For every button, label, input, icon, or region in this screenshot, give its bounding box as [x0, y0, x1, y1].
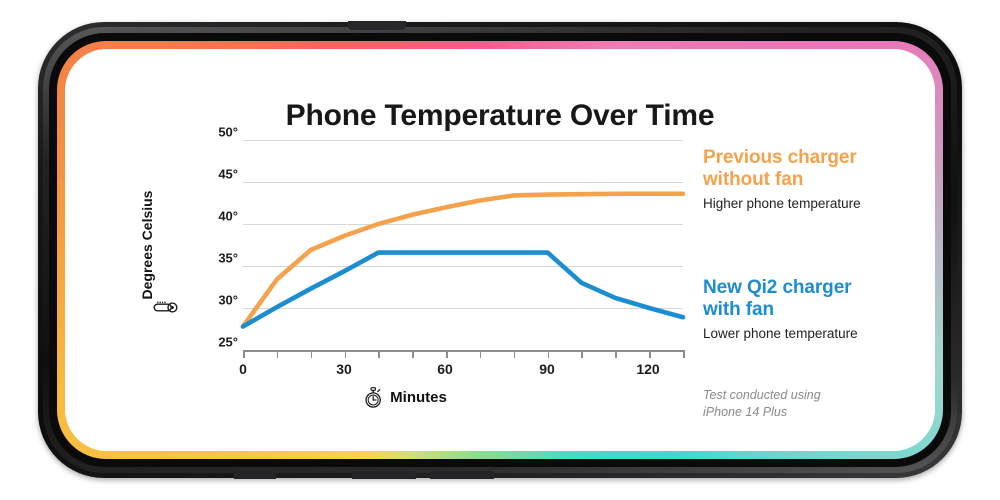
thermometer-icon: [153, 299, 179, 315]
line-new-qi2-charger-with-fan: [243, 253, 683, 327]
legend-orange-title: Previous charger without fan: [703, 147, 861, 191]
x-tick-90: 90: [539, 361, 555, 377]
phone-mockup: Phone Temperature Over Time Degrees Cels…: [38, 22, 962, 478]
line-previous-charger-without-fan: [243, 194, 683, 327]
phone-button-power[interactable]: [430, 471, 494, 479]
x-minor-tick-90: [548, 350, 550, 358]
series-lines: [243, 140, 683, 350]
legend-previous-charger: Previous charger without fan Higher phon…: [703, 147, 861, 211]
legend-new-qi2-charger: New Qi2 charger with fan Lower phone tem…: [703, 277, 858, 341]
x-minor-tick-40: [378, 350, 380, 358]
legend-blue-title-line1: New Qi2 charger: [703, 277, 858, 299]
x-tick-30: 30: [336, 361, 352, 377]
legend-orange-title-line1: Previous charger: [703, 147, 861, 169]
y-tick-40: 40°: [218, 209, 238, 224]
y-tick-45: 45°: [218, 167, 238, 182]
y-axis-title: Degrees Celsius: [139, 191, 155, 300]
legend-orange-subtitle: Higher phone temperature: [703, 196, 861, 211]
phone-screen: Phone Temperature Over Time Degrees Cels…: [65, 49, 935, 451]
x-minor-tick-10: [277, 350, 279, 358]
x-minor-tick-50: [412, 350, 414, 358]
phone-button-volume-down[interactable]: [234, 471, 276, 479]
legend-blue-subtitle: Lower phone temperature: [703, 326, 858, 341]
x-minor-tick-100: [581, 350, 583, 358]
x-minor-tick-130: [683, 350, 685, 358]
x-minor-tick-110: [615, 350, 617, 358]
x-minor-tick-30: [345, 350, 347, 358]
y-tick-35: 35°: [218, 251, 238, 266]
y-axis-tick-labels: 50° 45° 40° 35° 30° 25°: [190, 132, 238, 358]
phone-button-volume-up[interactable]: [352, 471, 416, 479]
footnote: Test conducted using iPhone 14 Plus: [703, 387, 821, 421]
x-axis-title: Minutes: [390, 389, 447, 406]
stopwatch-icon: [363, 387, 383, 408]
chart-card: Phone Temperature Over Time Degrees Cels…: [65, 49, 935, 451]
x-minor-tick-80: [514, 350, 516, 358]
legend-orange-title-line2: without fan: [703, 169, 861, 191]
x-tick-0: 0: [239, 361, 247, 377]
x-axis-line: [243, 350, 683, 352]
x-axis-title-group: Minutes: [363, 387, 447, 408]
y-tick-25: 25°: [218, 335, 238, 350]
footnote-line1: Test conducted using: [703, 387, 821, 404]
y-tick-50: 50°: [218, 125, 238, 140]
y-tick-30: 30°: [218, 293, 238, 308]
x-minor-tick-120: [649, 350, 651, 358]
x-minor-tick-0: [243, 350, 245, 358]
chart-title: Phone Temperature Over Time: [65, 99, 935, 133]
x-tick-120: 120: [636, 361, 659, 377]
legend-blue-title: New Qi2 charger with fan: [703, 277, 858, 321]
plot-area: [243, 140, 683, 350]
x-minor-tick-60: [446, 350, 448, 358]
phone-top-speaker: [348, 21, 406, 30]
x-tick-60: 60: [437, 361, 453, 377]
legend-blue-title-line2: with fan: [703, 299, 858, 321]
x-minor-tick-70: [480, 350, 482, 358]
footnote-line2: iPhone 14 Plus: [703, 404, 821, 421]
x-minor-tick-20: [311, 350, 313, 358]
